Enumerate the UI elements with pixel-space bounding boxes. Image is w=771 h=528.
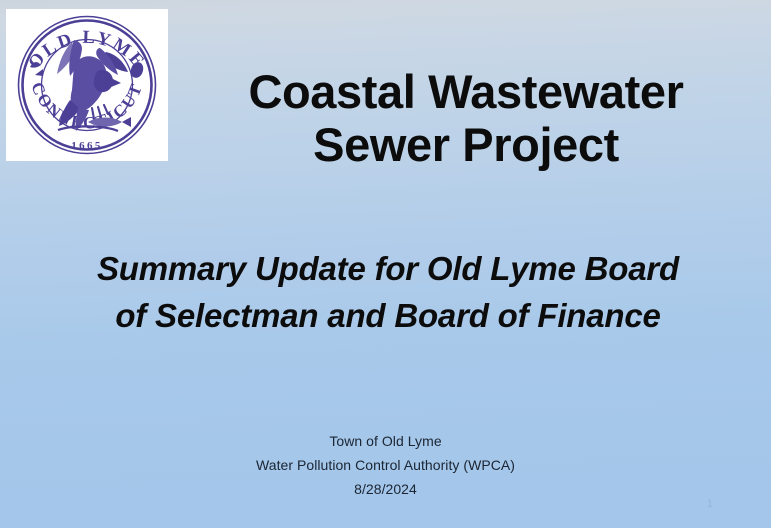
subtitle-line-2: of Selectman and Board of Finance bbox=[38, 293, 738, 340]
page-subtitle: Summary Update for Old Lyme Board of Sel… bbox=[38, 246, 738, 340]
footer-authority: Water Pollution Control Authority (WPCA) bbox=[0, 453, 771, 477]
presentation-slide: OLD LYME CONNECTICUT 1665 bbox=[0, 0, 771, 528]
title-line-1: Coastal Wastewater bbox=[176, 66, 756, 119]
page-number: 1 bbox=[707, 499, 713, 510]
slide-footer: Town of Old Lyme Water Pollution Control… bbox=[0, 429, 771, 501]
subtitle-line-1: Summary Update for Old Lyme Board bbox=[38, 246, 738, 293]
title-line-2: Sewer Project bbox=[176, 119, 756, 172]
town-seal-logo-box: OLD LYME CONNECTICUT 1665 bbox=[6, 9, 168, 161]
page-title: Coastal Wastewater Sewer Project bbox=[176, 66, 756, 171]
footer-organization: Town of Old Lyme bbox=[0, 429, 771, 453]
svg-text:1665: 1665 bbox=[71, 140, 103, 152]
old-lyme-town-seal-icon: OLD LYME CONNECTICUT 1665 bbox=[12, 12, 162, 158]
footer-date: 8/28/2024 bbox=[0, 477, 771, 501]
